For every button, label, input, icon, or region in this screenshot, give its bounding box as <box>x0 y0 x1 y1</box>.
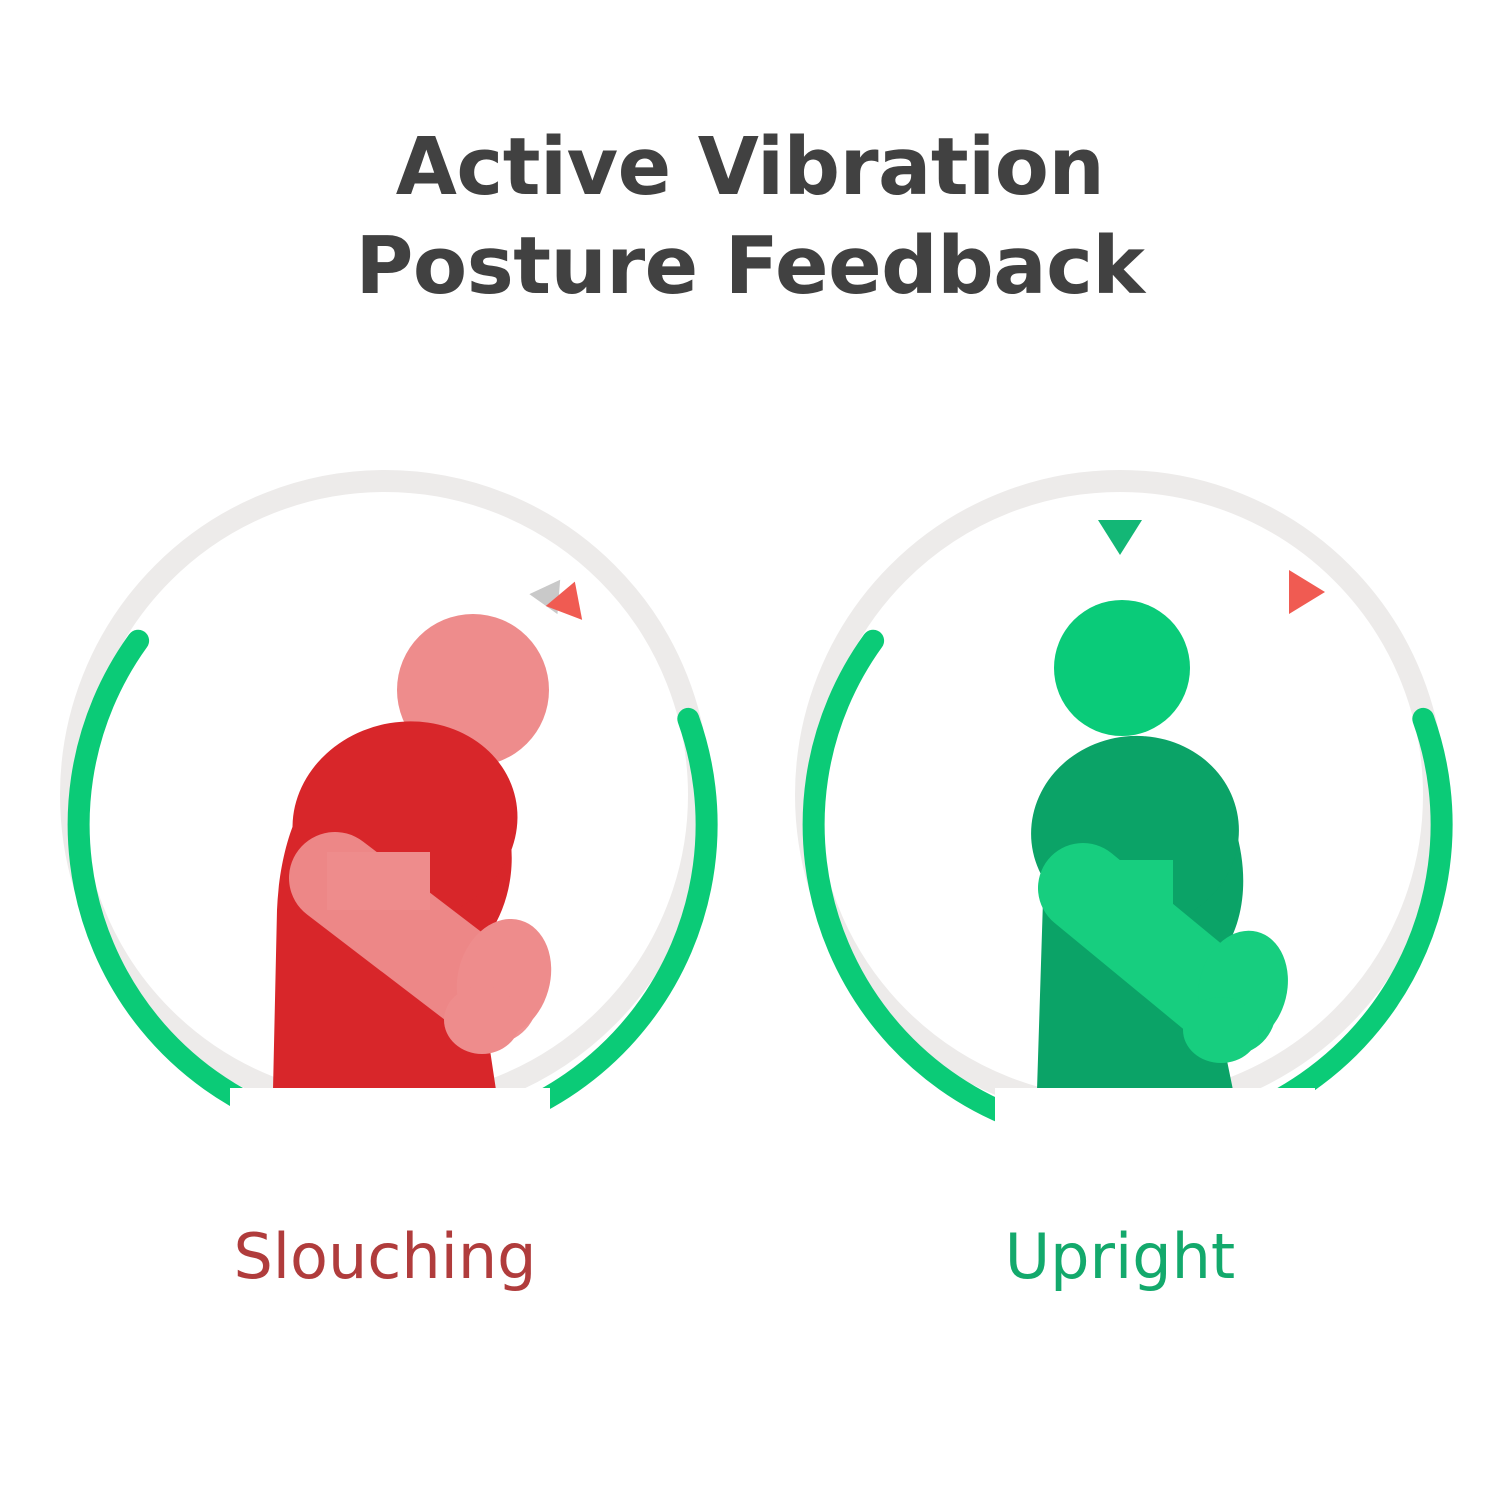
infographic-canvas: Active Vibration Posture Feedback <box>0 0 1500 1500</box>
figure-head-upright <box>1054 600 1190 736</box>
vibration-ok-marker-icon <box>1098 520 1142 555</box>
slouching-gauge <box>30 440 740 1160</box>
upright-gauge <box>765 440 1475 1160</box>
caption-slouching: Slouching <box>30 1218 740 1296</box>
figure-baseline-mask-slouching <box>230 1088 550 1168</box>
figure-hand-slouching <box>444 986 520 1054</box>
page-title: Active Vibration Posture Feedback <box>0 118 1500 316</box>
vibration-alert-marker-icon <box>1289 570 1325 614</box>
figure-hand-upright <box>1183 997 1259 1063</box>
posture-panel-slouching[interactable] <box>30 440 740 1160</box>
title-line-2: Posture Feedback <box>0 217 1500 316</box>
posture-panel-upright[interactable] <box>765 440 1475 1160</box>
caption-upright: Upright <box>765 1218 1475 1296</box>
figure-shoulder-slouching <box>327 852 430 910</box>
figure-baseline-mask-upright <box>995 1088 1315 1168</box>
title-line-1: Active Vibration <box>0 118 1500 217</box>
figure-shoulder-upright <box>1075 860 1173 918</box>
